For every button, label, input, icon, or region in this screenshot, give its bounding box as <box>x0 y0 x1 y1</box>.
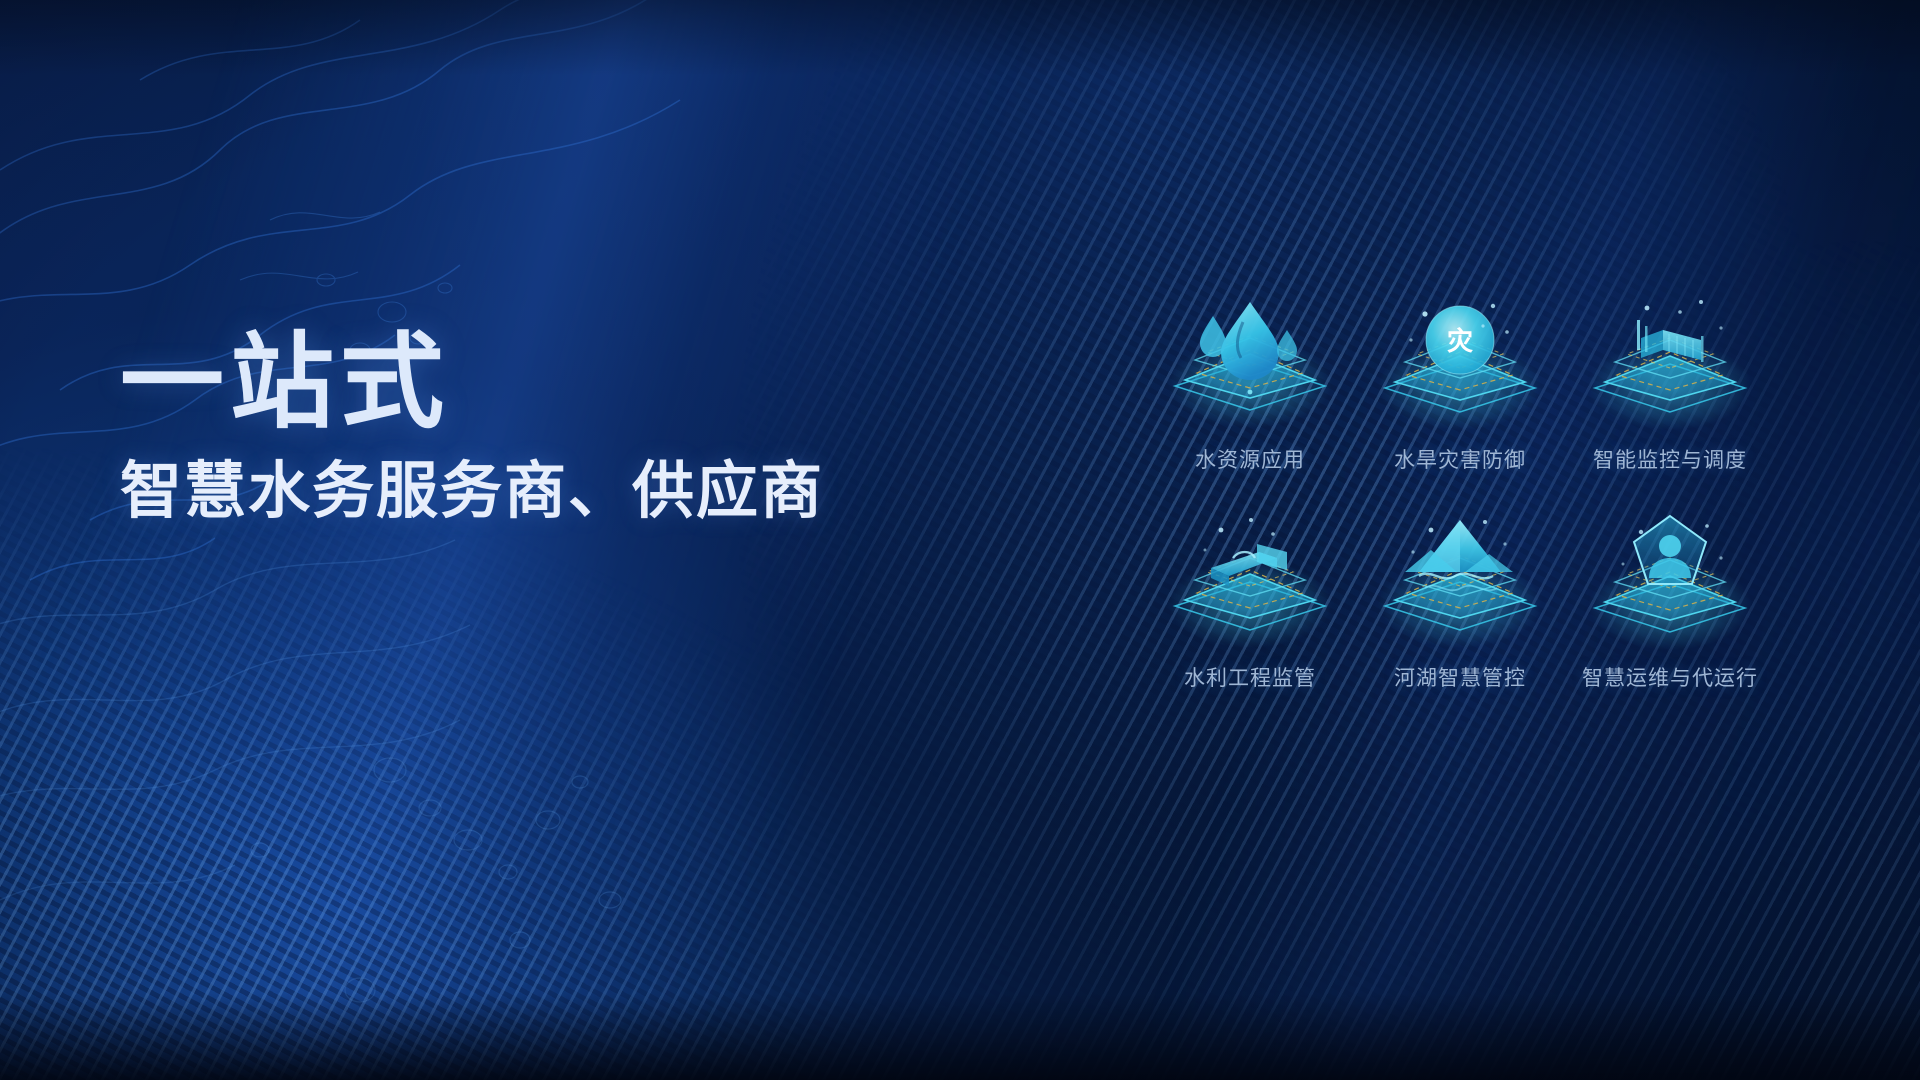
page-title: 一站式 <box>120 328 824 438</box>
dam-structure-icon <box>1155 506 1345 656</box>
feature-label: 水利工程监管 <box>1184 662 1316 692</box>
feature-label: 水资源应用 <box>1195 444 1305 474</box>
feature-label: 水旱灾害防御 <box>1394 444 1526 474</box>
disaster-sphere-icon: 灾 <box>1365 288 1555 438</box>
water-bubble-texture-bottom-left <box>0 520 660 1080</box>
feature-item-smart-ops[interactable]: 智慧运维与代运行 <box>1570 506 1770 692</box>
banner-stage: 一站式 智慧水务服务商、供应商 <box>0 0 1920 1080</box>
feature-item-water-resource[interactable]: 水资源应用 <box>1150 288 1350 474</box>
feature-label: 河湖智慧管控 <box>1394 662 1526 692</box>
disaster-glyph: 灾 <box>1447 326 1473 356</box>
shield-operator-icon <box>1575 506 1765 656</box>
feature-item-project-supervision[interactable]: 水利工程监管 <box>1150 506 1350 692</box>
water-droplet-icon <box>1155 288 1345 438</box>
feature-label: 智能监控与调度 <box>1593 444 1747 474</box>
feature-item-river-lake[interactable]: 河湖智慧管控 <box>1360 506 1560 692</box>
feature-item-monitor-dispatch[interactable]: 智能监控与调度 <box>1570 288 1770 474</box>
headline-block: 一站式 智慧水务服务商、供应商 <box>120 328 824 528</box>
mountain-river-icon <box>1365 506 1555 656</box>
feature-label: 智慧运维与代运行 <box>1582 662 1758 692</box>
page-subtitle: 智慧水务服务商、供应商 <box>120 456 824 528</box>
feature-grid: 水资源应用 <box>1150 288 1770 692</box>
feature-item-flood-drought[interactable]: 灾 水旱灾害防御 <box>1360 288 1560 474</box>
monitoring-station-icon <box>1575 288 1765 438</box>
